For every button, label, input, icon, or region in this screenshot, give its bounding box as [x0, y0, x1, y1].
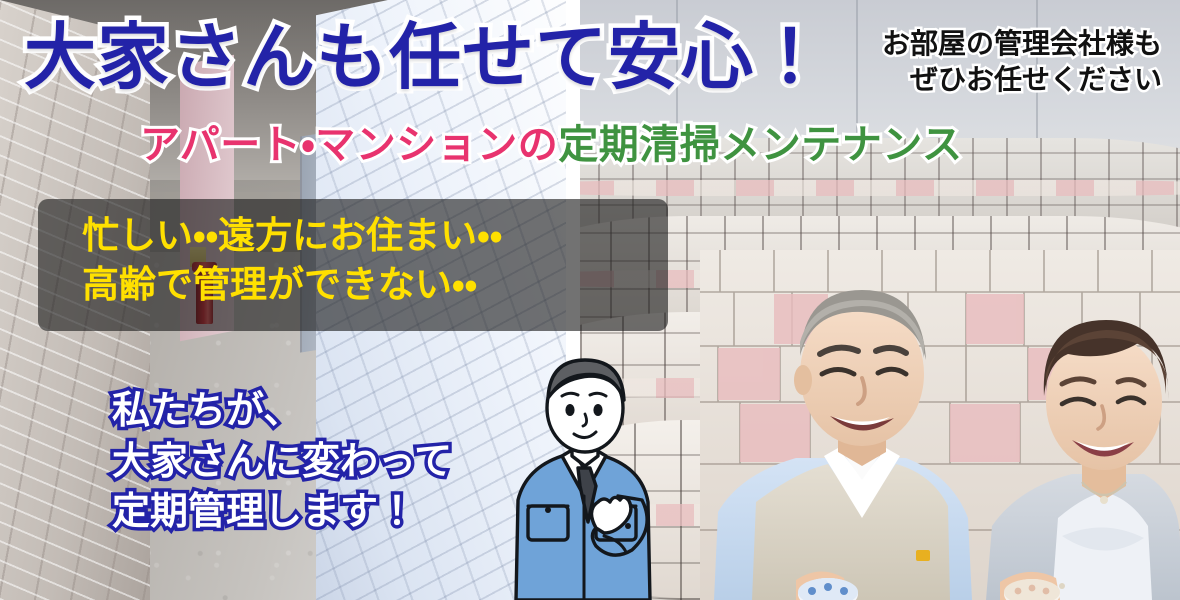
management-company-note-line2: ぜひお任せください: [882, 62, 1162, 98]
promise-text: 私たちが、 大家さんに変わって 定期管理します！: [112, 386, 452, 538]
service-subtitle: アパート・マンションの定期清掃メンテナンス: [140, 125, 963, 165]
promise-text-line1: 私たちが、: [112, 386, 452, 437]
promise-text-line3: 定期管理します！: [112, 487, 452, 538]
problem-text-line2: 高齢で管理ができない・・: [82, 261, 502, 310]
elderly-couple-photo: [700, 250, 1180, 600]
page-title: 大家さんも任せて安心！: [24, 22, 827, 94]
promise-text-line2: 大家さんに変わって: [112, 437, 452, 488]
pink-tile-arc: [580, 180, 1180, 196]
worker-illustration: [492, 350, 672, 600]
management-company-note-line1: お部屋の管理会社様も: [882, 26, 1162, 62]
service-subtitle-service: 定期清掃メンテナンス: [558, 123, 962, 167]
service-subtitle-target: アパート・マンションの: [140, 123, 558, 167]
management-company-note: お部屋の管理会社様も ぜひお任せください: [882, 26, 1162, 98]
problem-text: 忙しい・・遠方にお住まい・・ 高齢で管理ができない・・: [82, 212, 502, 310]
problem-text-line1: 忙しい・・遠方にお住まい・・: [82, 212, 502, 261]
promo-banner: 大家さんも任せて安心！ お部屋の管理会社様も ぜひお任せください アパート・マン…: [0, 0, 1180, 600]
